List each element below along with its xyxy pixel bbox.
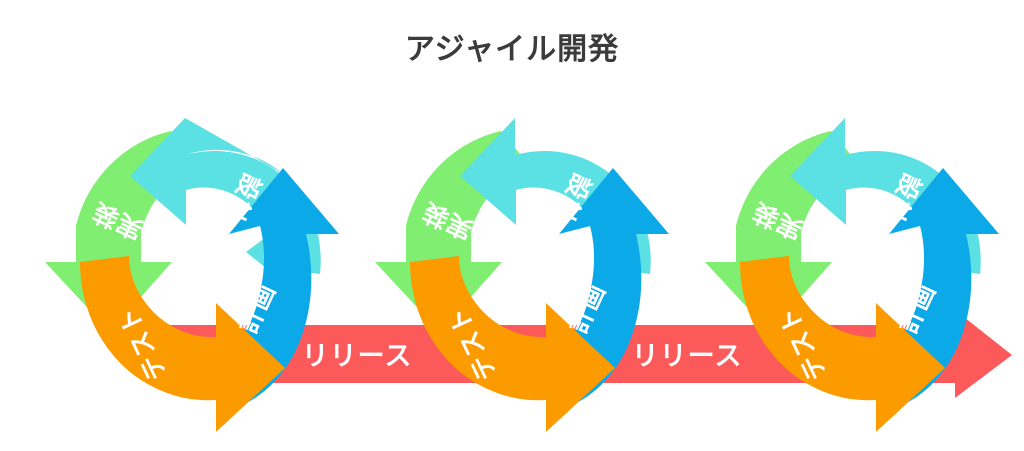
release-label-2: リリース (632, 341, 743, 372)
release-label-1: リリース (302, 341, 413, 372)
agile-development-diagram: アジャイル開発 設計 実装 テスト 計画 (0, 0, 1024, 451)
cycle-1: 設計 実装 テスト 計画 (45, 118, 339, 432)
cycle-3: 設計 実装 テスト 計画 (705, 118, 999, 432)
cycle-2: 設計 実装 テスト 計画 (375, 118, 669, 432)
diagram-canvas: 設計 実装 テスト 計画 設計 実装 テスト 計画 設計 実装 テスト 計画 (0, 0, 1024, 451)
